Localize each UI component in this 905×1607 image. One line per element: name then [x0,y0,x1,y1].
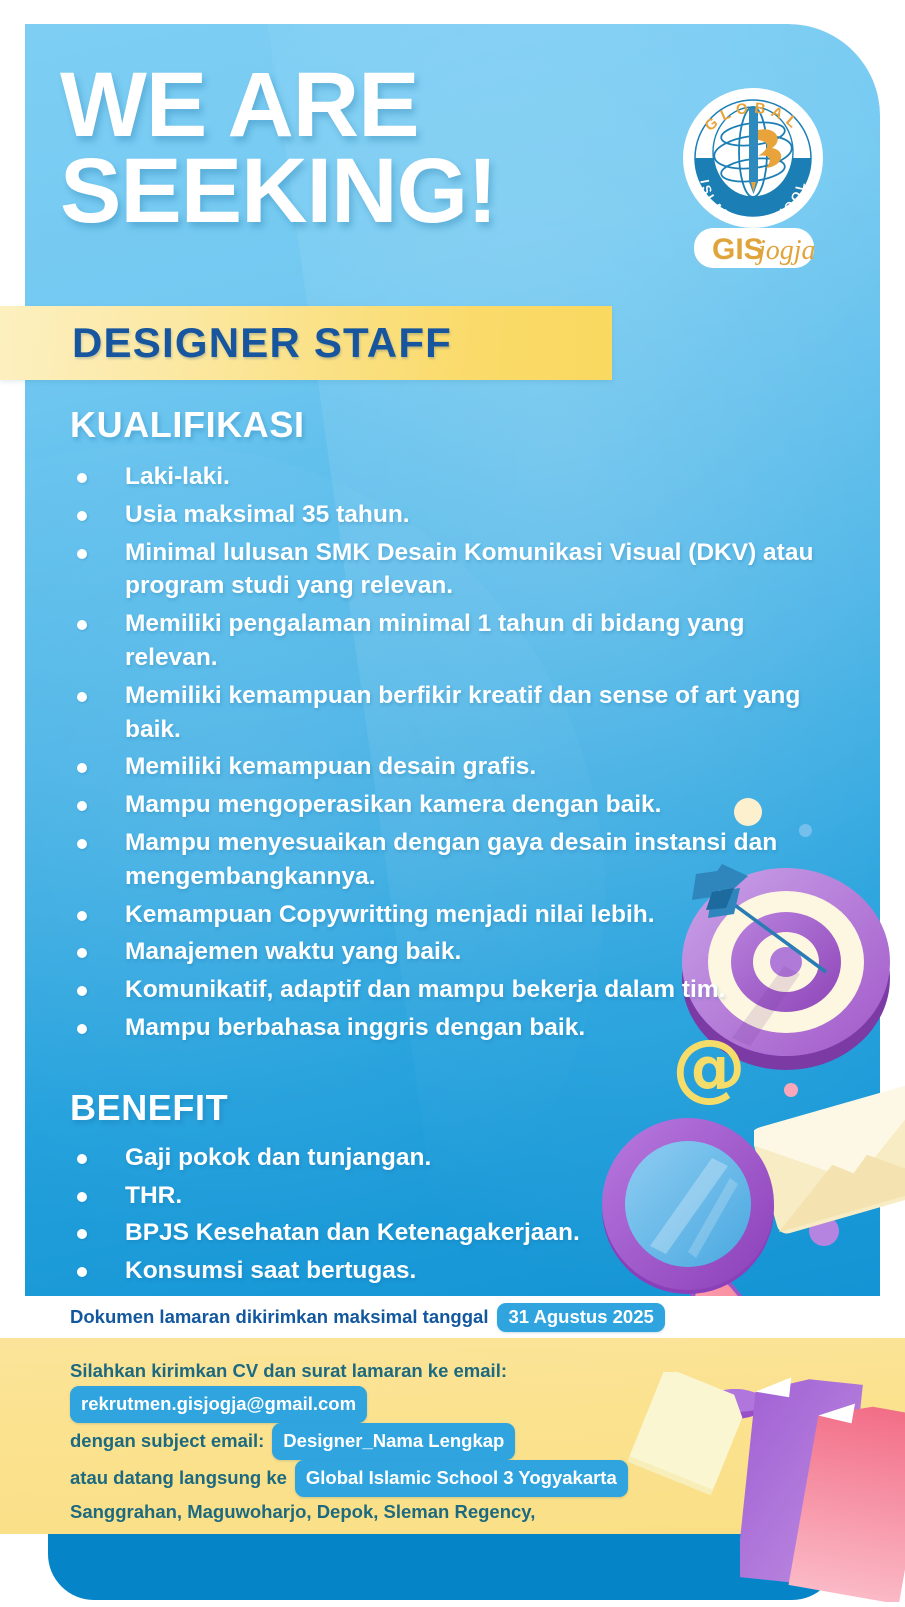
job-vacancy-poster: WE ARE SEEKING! [0,0,905,1600]
list-item: Memiliki kemampuan berfikir kreatif dan … [70,679,815,747]
footer-email-badge[interactable]: rekrutmen.gisjogja@gmail.com [70,1386,367,1423]
arrow-icon [678,852,898,1052]
deadline-label: Dokumen lamaran dikirimkan maksimal tang… [70,1306,488,1328]
document-cards-icon [740,1372,905,1602]
list-item: Laki-laki. [70,460,815,494]
headline-line-2: SEEKING! [60,148,497,234]
benefit-title: BENEFIT [70,1087,855,1129]
deadline-date-badge: 31 Agustus 2025 [497,1303,664,1332]
qualifications-title: KUALIFIKASI [70,404,855,446]
list-item: Memiliki pengalaman minimal 1 tahun di b… [70,607,815,675]
footer-subject-label: dengan subject email: [70,1426,264,1456]
logo-wordmark-jogja: jogja [755,235,816,266]
list-item: Minimal lulusan SMK Desain Komunikasi Vi… [70,536,815,604]
poster-bottom-bar [48,1528,838,1600]
cream-document-icon [622,1372,752,1497]
gis-jogja-school-crest-icon: GLOBAL ISLAMIC SCHOOL GIS jogja [672,78,834,278]
footer-visit-label: atau datang langsung ke [70,1463,287,1493]
list-item: Konsumsi saat bertugas. [70,1254,815,1288]
footer-contact-text: Silahkan kirimkan CV dan surat lamaran k… [70,1356,628,1534]
page-title: WE ARE SEEKING! [60,62,497,235]
list-item: THR. [70,1179,815,1213]
list-item: Gaji pokok dan tunjangan. [70,1141,815,1175]
list-item: BPJS Kesehatan dan Ketenagakerjaan. [70,1216,815,1250]
role-title-banner: DESIGNER STAFF [0,306,612,380]
role-title: DESIGNER STAFF [72,319,452,367]
logo-wordmark-gis: GIS [712,233,764,266]
list-item: Mampu mengoperasikan kamera dengan baik. [70,788,815,822]
footer-address-line-2: Yogyakarta Special Region 55282 [70,1527,363,1534]
deadline-strip: Dokumen lamaran dikirimkan maksimal tang… [0,1296,905,1338]
footer-location-badge: Global Islamic School 3 Yogyakarta [295,1460,628,1497]
footer-line-1: Silahkan kirimkan CV dan surat lamaran k… [70,1356,507,1386]
footer-address-line-1: Sanggrahan, Maguwoharjo, Depok, Sleman R… [70,1497,535,1527]
footer-subject-badge: Designer_Nama Lengkap [272,1423,515,1460]
list-item: Usia maksimal 35 tahun. [70,498,815,532]
list-item: Memiliki kemampuan desain grafis. [70,750,815,784]
